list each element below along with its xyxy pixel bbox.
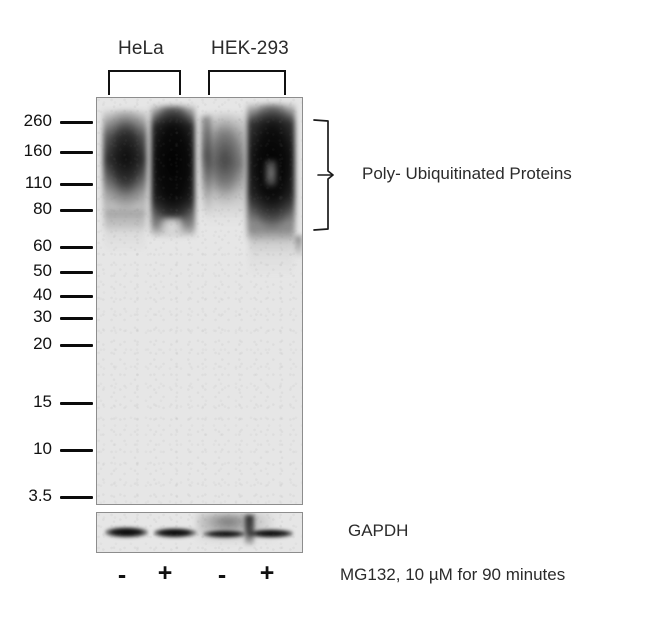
gapdh-band-lane-3 (203, 530, 245, 538)
gapdh-label: GAPDH (348, 521, 408, 541)
ladder-label-30: 30 (4, 307, 52, 327)
ladder-tick-50 (60, 271, 93, 274)
gapdh-lane-4-streak (245, 515, 254, 545)
ladder-tick-80 (60, 209, 93, 212)
poly-ubiquitinated-proteins-blot-panel (96, 97, 303, 505)
blot-lane-3 (205, 112, 245, 224)
blot-lane-2-notch (161, 218, 183, 238)
ladder-tick-10 (60, 449, 93, 452)
poly-ubiquitin-brace (310, 118, 336, 232)
ladder-tick-40 (60, 295, 93, 298)
gapdh-background-smudge (197, 513, 275, 543)
ladder-tick-20 (60, 344, 93, 347)
blot-lane-3-left-edge (201, 116, 211, 216)
ladder-tick-15 (60, 402, 93, 405)
blot-lane-4-notch (265, 160, 277, 186)
ladder-label-10: 10 (4, 439, 52, 459)
ladder-tick-260 (60, 121, 93, 124)
group-label-hek293: HEK-293 (211, 38, 289, 60)
lane-marker-2: + (155, 561, 175, 586)
ladder-label-110: 110 (4, 173, 52, 193)
ladder-tick-30 (60, 317, 93, 320)
ladder-label-50: 50 (4, 261, 52, 281)
blot-lane-1-tail (105, 210, 145, 252)
ladder-tick-3.5 (60, 496, 93, 499)
blot-edge-artifact (295, 236, 302, 258)
gapdh-blot-panel (96, 512, 303, 553)
ladder-label-80: 80 (4, 199, 52, 219)
lane-marker-4: + (257, 561, 277, 586)
ladder-label-3.5: 3.5 (4, 486, 52, 506)
blot-lane-2 (151, 106, 195, 236)
lane-marker-1: - (112, 563, 132, 588)
ladder-tick-160 (60, 151, 93, 154)
group-bracket-hek293 (208, 70, 286, 95)
western-blot-figure: HeLa HEK-293 260 160 110 80 60 50 40 30 … (0, 0, 650, 634)
ladder-tick-110 (60, 183, 93, 186)
gapdh-band-lane-4 (249, 529, 293, 538)
ladder-tick-60 (60, 246, 93, 249)
gapdh-band-lane-1 (105, 527, 148, 538)
lane-marker-3: - (212, 563, 232, 588)
ladder-label-20: 20 (4, 334, 52, 354)
ladder-label-40: 40 (4, 285, 52, 305)
treatment-caption: MG132, 10 µM for 90 minutes (340, 565, 565, 585)
ladder-label-15: 15 (4, 392, 52, 412)
blot-lane-4-tail (249, 226, 293, 276)
ladder-label-60: 60 (4, 236, 52, 256)
group-label-hela: HeLa (118, 38, 164, 60)
ladder-label-260: 260 (4, 111, 52, 131)
ladder-label-160: 160 (4, 141, 52, 161)
poly-ubiquitinated-proteins-label: Poly- Ubiquitinated Proteins (362, 164, 572, 184)
group-bracket-hela (108, 70, 181, 95)
gapdh-band-lane-2 (154, 528, 197, 538)
